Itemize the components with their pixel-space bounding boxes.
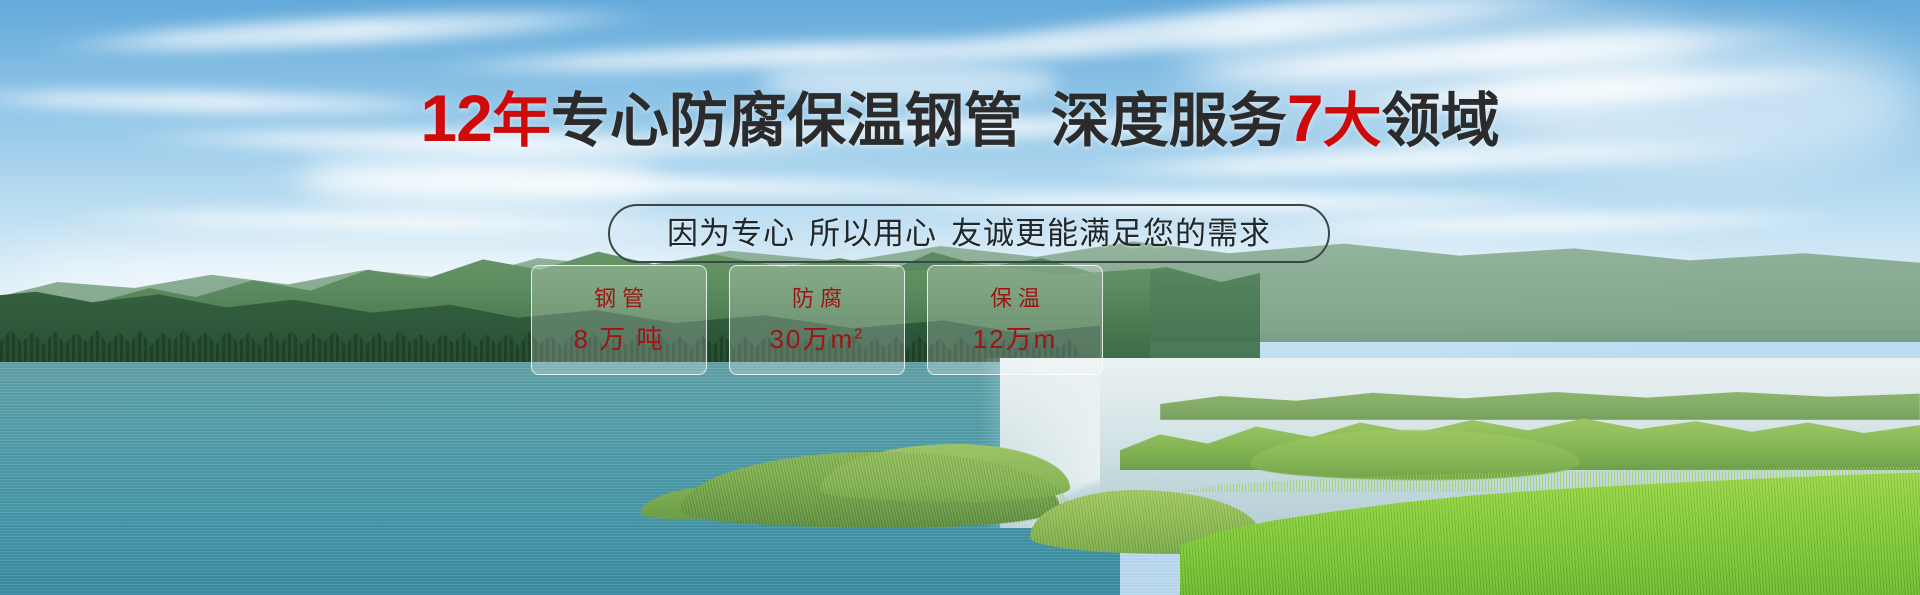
stat-card-value-text: 8 万 吨 [574,324,665,354]
headline-part2: 深度服务 [1051,88,1287,154]
subtitle-seg-3: 友诚更能满足您的需求 [951,216,1271,251]
stat-card-value-text: 30万m [770,324,855,354]
stat-card-value: 30万m2 [770,326,865,352]
promo-banner: 12年专心防腐保温钢管深度服务7大领域 因为专心所以用心友诚更能满足您的需求 钢… [0,0,1920,595]
subtitle-seg-1: 因为专心 [667,216,795,251]
stat-card-value-superscript: 2 [854,325,864,342]
stat-card-title: 保温 [984,288,1046,310]
headline-part1: 专心防腐保温钢管 [551,88,1023,154]
page-title: 12年专心防腐保温钢管深度服务7大领域 [0,88,1920,151]
headline-years-number: 12 [420,81,491,155]
stat-card-value-text: 12万m [973,324,1058,354]
headline-part3: 领域 [1382,88,1500,154]
subtitle-pill: 因为专心所以用心友诚更能满足您的需求 [608,204,1330,263]
stat-card-insulation: 保温 12万m [927,265,1103,375]
stat-card-title: 钢管 [588,288,650,310]
stat-card-anticorrosion: 防腐 30万m2 [729,265,905,375]
subtitle-text: 因为专心所以用心友诚更能满足您的需求 [667,218,1271,249]
subtitle-seg-2: 所以用心 [809,216,937,251]
headline-fields-unit: 大 [1323,88,1382,154]
stat-card-title: 防腐 [786,288,848,310]
stat-card-group: 钢管 8 万 吨 防腐 30万m2 保温 12万m [531,265,1231,375]
stat-card-value: 8 万 吨 [574,326,665,352]
stat-card-steel-pipe: 钢管 8 万 吨 [531,265,707,375]
headline-fields-number: 7 [1287,81,1323,155]
headline-years-unit: 年 [492,88,551,154]
stat-card-value: 12万m [973,326,1058,352]
